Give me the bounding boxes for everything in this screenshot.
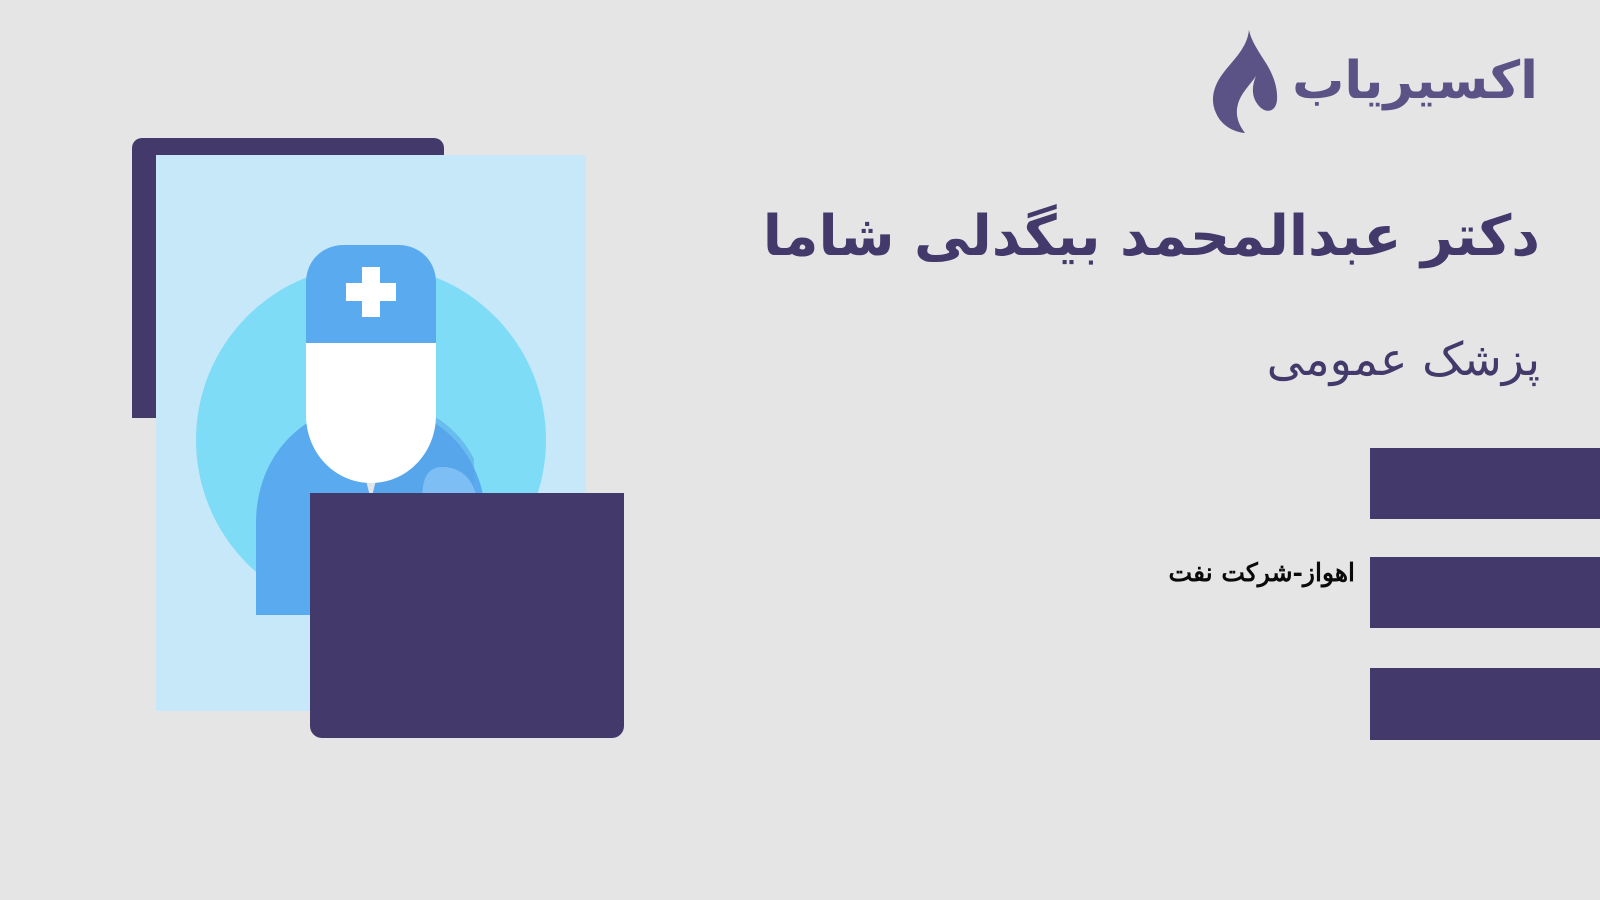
brand-wordmark: اکسیریاب (1292, 55, 1538, 107)
accent-bar-2 (1370, 557, 1600, 628)
accent-bar-3 (1370, 668, 1600, 740)
page-title: دکتر عبدالمحمد بیگدلی شاما (120, 205, 1540, 269)
brand-logo: اکسیریاب (1204, 28, 1538, 134)
slide-canvas: اکسیریاب (0, 0, 1600, 900)
flame-droplet-icon (1204, 28, 1278, 134)
specialty-label: پزشک عمومی (1267, 332, 1540, 387)
accent-bar-1 (1370, 448, 1600, 519)
square-front-card (310, 493, 624, 738)
location-label: اهواز-شرکت نفت (1169, 558, 1356, 587)
